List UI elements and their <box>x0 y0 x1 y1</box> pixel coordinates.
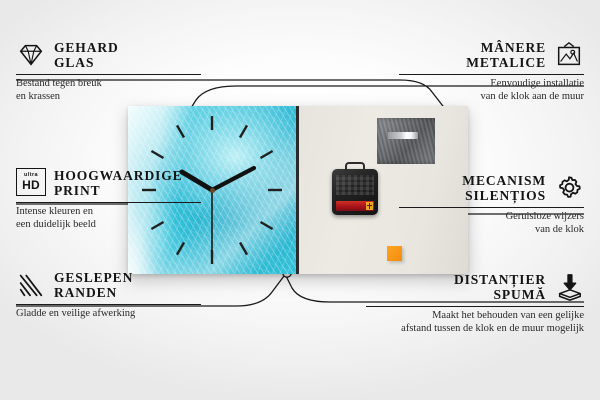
callout-desc: Bestand tegen breuk en krassen <box>16 78 201 103</box>
mechanism-grille <box>336 175 374 195</box>
battery-plus-terminal <box>366 202 373 210</box>
mechanism-hook <box>345 162 365 171</box>
foam-spacer-icon <box>554 272 584 302</box>
callout-rule <box>399 74 584 75</box>
callout-hoogwaardige-print: ultra HD HOOGWAARDIGE PRINT Intense kleu… <box>16 168 201 231</box>
callout-desc: Intense kleuren en een duidelijk beeld <box>16 206 201 231</box>
picture-frame-hanger-icon <box>554 40 584 70</box>
callout-rule <box>366 306 584 307</box>
ultra-hd-icon: ultra HD <box>16 168 46 198</box>
callout-title: MECANISM SILENȚIOS <box>462 173 546 203</box>
foam-spacer <box>387 246 402 261</box>
callout-rule <box>16 304 201 305</box>
callout-desc: Geruisloze wijzers van de klok <box>399 211 584 236</box>
callout-title: HOOGWAARDIGE PRINT <box>54 168 183 198</box>
clock-center-pivot <box>210 188 215 193</box>
gear-icon <box>554 173 584 203</box>
ultra-hd-bottom-label: HD <box>22 179 40 191</box>
callout-gehard-glas: GEHARD GLAS Bestand tegen breuk en krass… <box>16 40 201 103</box>
callout-desc: Gladde en veilige afwerking <box>16 308 201 321</box>
callout-manere-metalice: MÂNERE METALICE Eenvoudige installatie v… <box>399 40 584 103</box>
callout-rule <box>399 207 584 208</box>
callout-mecanism-silentios: MECANISM SILENȚIOS Geruisloze wijzers va… <box>399 173 584 236</box>
hanger-slot <box>388 132 418 139</box>
metal-hanger <box>377 118 435 164</box>
infographic-canvas: GEHARD GLAS Bestand tegen breuk en krass… <box>0 0 600 400</box>
bevelled-edges-icon <box>16 270 46 300</box>
clock-mechanism <box>332 169 378 215</box>
callout-rule <box>16 202 201 203</box>
callout-rule <box>16 74 201 75</box>
callout-distantier-spuma: DISTANȚIER SPUMĂ Maakt het behouden van … <box>366 272 584 335</box>
diamond-icon <box>16 40 46 70</box>
callout-title: GEHARD GLAS <box>54 40 119 70</box>
callout-title: GESLEPEN RANDEN <box>54 270 133 300</box>
callout-title: MÂNERE METALICE <box>466 40 546 70</box>
callout-desc: Eenvoudige installatie van de klok aan d… <box>399 78 584 103</box>
callout-geslepen-randen: GESLEPEN RANDEN Gladde en veilige afwerk… <box>16 270 201 321</box>
callout-title: DISTANȚIER SPUMĂ <box>454 272 546 302</box>
battery <box>336 201 374 211</box>
callout-desc: Maakt het behouden van een gelijke afsta… <box>366 310 584 335</box>
